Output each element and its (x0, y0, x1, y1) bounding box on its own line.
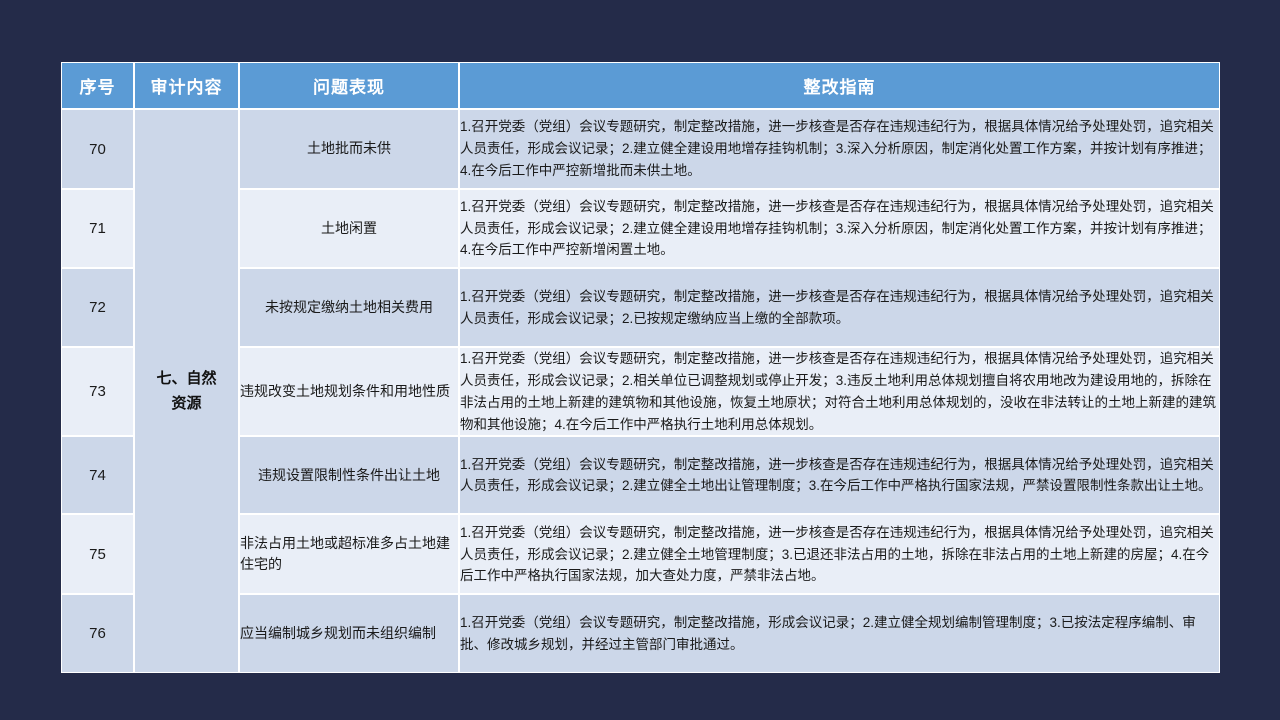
column-header-guide: 整改指南 (459, 62, 1220, 109)
audit-category-cell: 七、自然 资源 (134, 109, 239, 673)
row-serial: 73 (61, 347, 134, 436)
column-header-issue: 问题表现 (239, 62, 459, 109)
row-serial: 71 (61, 189, 134, 268)
row-serial: 75 (61, 514, 134, 594)
row-guide: 1.召开党委（党组）会议专题研究，制定整改措施，进一步核查是否存在违规违纪行为，… (459, 109, 1220, 189)
header-row: 序号 审计内容 问题表现 整改指南 (61, 62, 1220, 109)
row-serial: 74 (61, 436, 134, 514)
table-body: 70 七、自然 资源 土地批而未供 1.召开党委（党组）会议专题研究，制定整改措… (61, 109, 1220, 673)
row-serial: 70 (61, 109, 134, 189)
row-issue: 违规改变土地规划条件和用地性质 (239, 347, 459, 436)
row-issue: 未按规定缴纳土地相关费用 (239, 268, 459, 347)
column-header-audit-content: 审计内容 (134, 62, 239, 109)
row-guide: 1.召开党委（党组）会议专题研究，制定整改措施，进一步核查是否存在违规违纪行为，… (459, 268, 1220, 347)
row-guide: 1.召开党委（党组）会议专题研究，制定整改措施，进一步核查是否存在违规违纪行为，… (459, 436, 1220, 514)
audit-table: 序号 审计内容 问题表现 整改指南 70 七、自然 资源 土地批而未供 1.召开… (61, 62, 1220, 673)
audit-table-container: 序号 审计内容 问题表现 整改指南 70 七、自然 资源 土地批而未供 1.召开… (61, 62, 1220, 659)
row-serial: 72 (61, 268, 134, 347)
slide-canvas: 序号 审计内容 问题表现 整改指南 70 七、自然 资源 土地批而未供 1.召开… (0, 0, 1280, 720)
row-issue: 违规设置限制性条件出让土地 (239, 436, 459, 514)
row-guide: 1.召开党委（党组）会议专题研究，制定整改措施，进一步核查是否存在违规违纪行为，… (459, 189, 1220, 268)
table-row: 70 七、自然 资源 土地批而未供 1.召开党委（党组）会议专题研究，制定整改措… (61, 109, 1220, 189)
table-header: 序号 审计内容 问题表现 整改指南 (61, 62, 1220, 109)
row-guide: 1.召开党委（党组）会议专题研究，制定整改措施，形成会议记录；2.建立健全规划编… (459, 594, 1220, 673)
column-header-serial: 序号 (61, 62, 134, 109)
row-issue: 土地闲置 (239, 189, 459, 268)
row-serial: 76 (61, 594, 134, 673)
row-issue: 非法占用土地或超标准多占土地建住宅的 (239, 514, 459, 594)
row-guide: 1.召开党委（党组）会议专题研究，制定整改措施，进一步核查是否存在违规违纪行为，… (459, 347, 1220, 436)
category-line-2: 资源 (135, 391, 238, 417)
row-issue: 土地批而未供 (239, 109, 459, 189)
row-guide: 1.召开党委（党组）会议专题研究，制定整改措施，进一步核查是否存在违规违纪行为，… (459, 514, 1220, 594)
row-issue: 应当编制城乡规划而未组织编制 (239, 594, 459, 673)
category-line-1: 七、自然 (135, 366, 238, 392)
